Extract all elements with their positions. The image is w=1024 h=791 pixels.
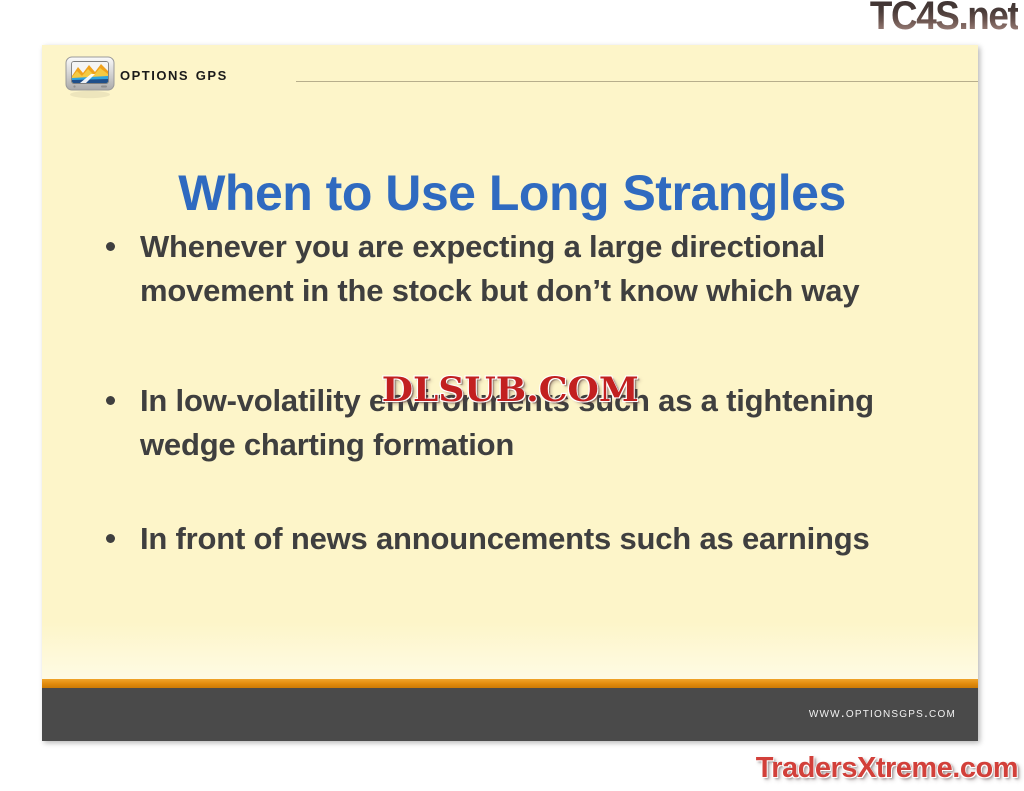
gps-device-icon [64, 54, 116, 100]
bullet-list: Whenever you are expecting a large direc… [94, 225, 940, 561]
slide-footer: www.OptionsGPS.com [42, 688, 978, 741]
page-title: When to Use Long Strangles [82, 167, 942, 220]
brand-wordmark: Options GPS [120, 64, 228, 86]
bullet-dot-icon [106, 242, 115, 251]
list-item: In low-volatility environments such as a… [94, 379, 940, 467]
bullet-dot-icon [106, 534, 115, 543]
bullet-dot-icon [106, 396, 115, 405]
tc4s-watermark: TC4S.net [870, 0, 1018, 36]
footer-accent-bar [42, 679, 978, 688]
list-item-text: Whenever you are expecting a large direc… [140, 225, 940, 313]
list-item-text: In front of news announcements such as e… [140, 517, 940, 561]
header-divider [296, 81, 978, 82]
footer-url: www.OptionsGPS.com [809, 704, 956, 720]
tradersxtreme-watermark: TradersXtreme.com [756, 752, 1018, 785]
presentation-slide: Options GPS When to Use Long Strangles W… [42, 45, 978, 741]
list-item-text: In low-volatility environments such as a… [140, 379, 940, 467]
list-item: In front of news announcements such as e… [94, 517, 940, 561]
list-item: Whenever you are expecting a large direc… [94, 225, 940, 313]
slide-header: Options GPS [42, 45, 978, 101]
